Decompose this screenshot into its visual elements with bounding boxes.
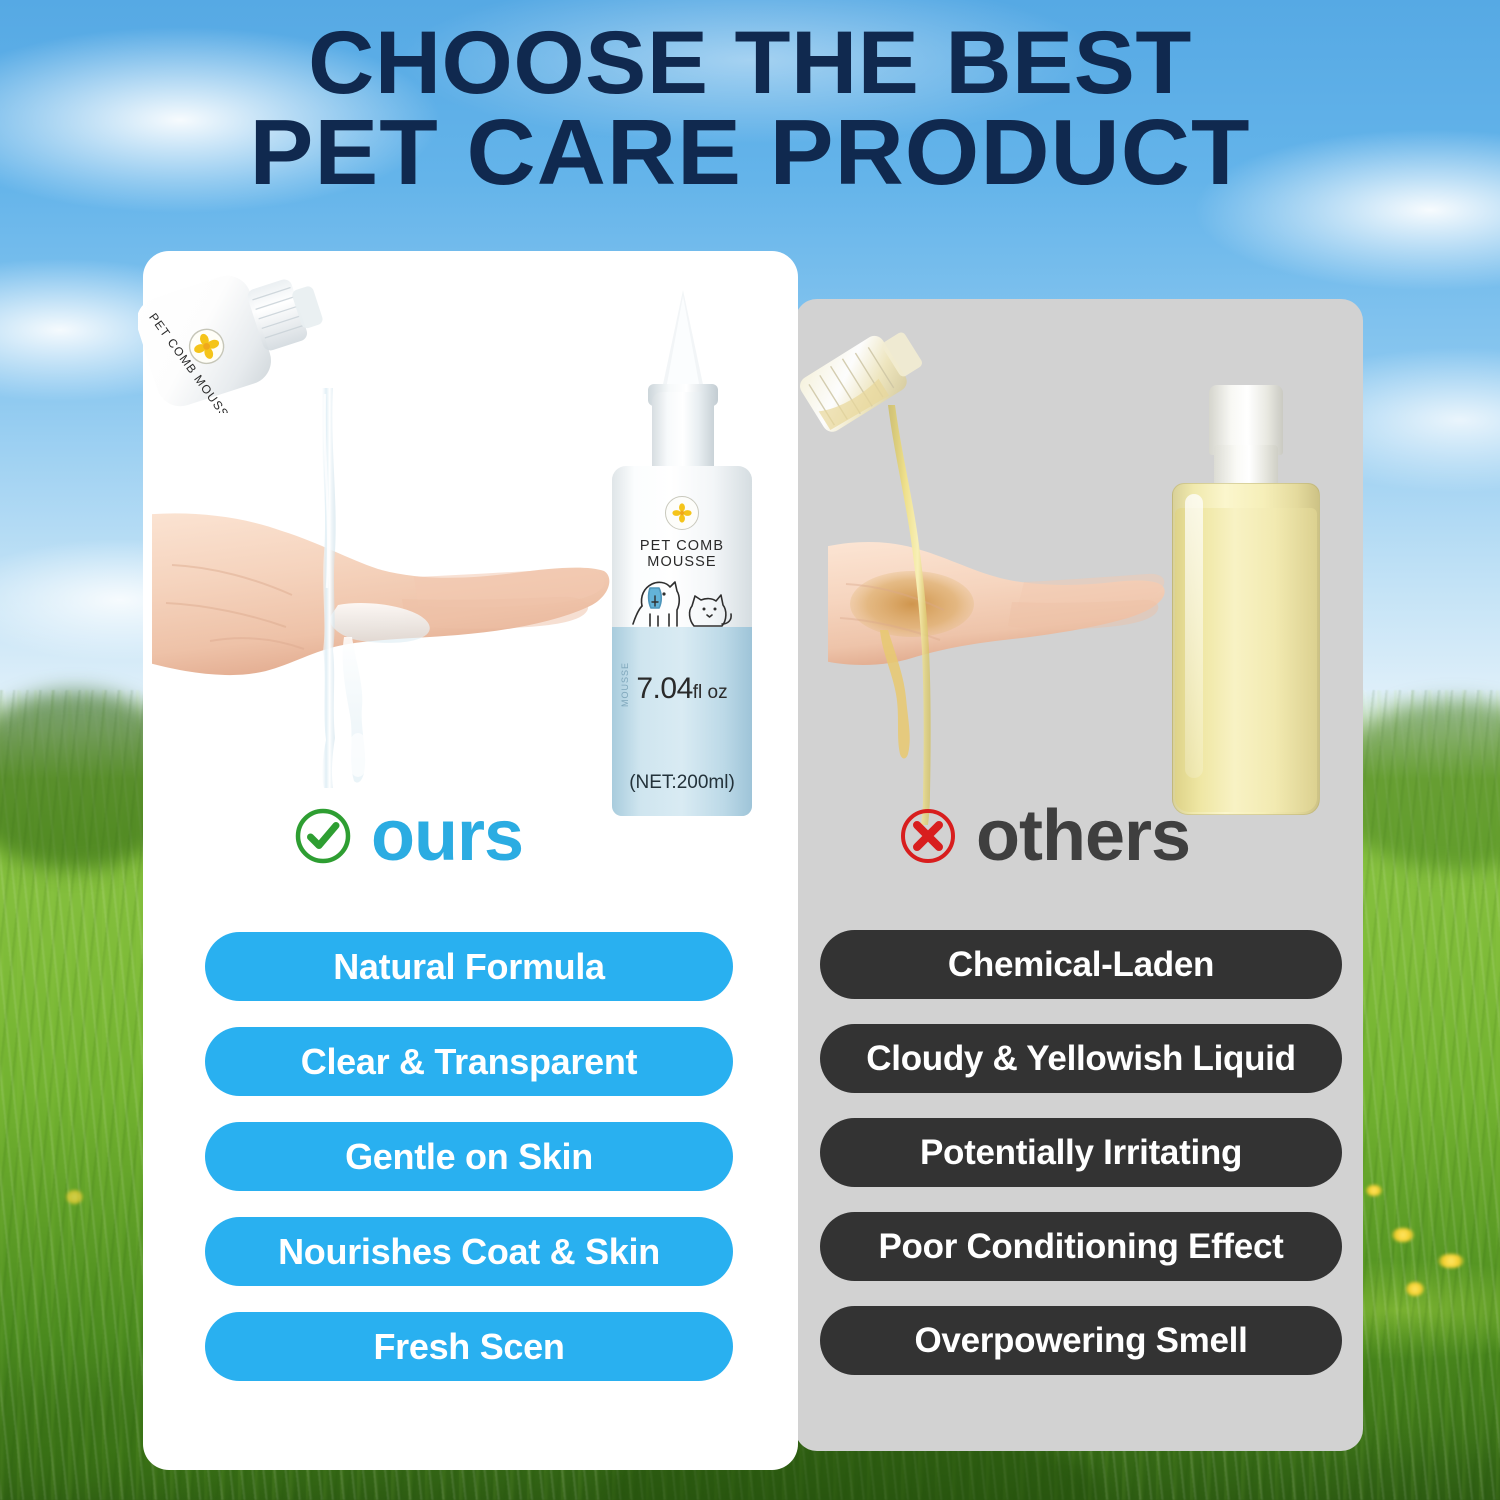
ours-feature-pill[interactable]: Clear & Transparent [205, 1027, 733, 1096]
flower-icon [66, 1190, 83, 1204]
others-feature-pill[interactable]: Potentially Irritating [820, 1118, 1342, 1187]
flower-icon [1392, 1228, 1414, 1242]
competitor-yellow-bottle [1172, 385, 1320, 815]
clear-liquid-stream [302, 388, 350, 788]
title-line-2: PET CARE PRODUCT [0, 106, 1500, 198]
ours-feature-pill[interactable]: Fresh Scen [205, 1312, 733, 1381]
flower-icon [1406, 1282, 1424, 1296]
others-feature-pill[interactable]: Poor Conditioning Effect [820, 1212, 1342, 1281]
others-label: others [976, 800, 1190, 872]
bottle-neck [652, 392, 714, 474]
competitor-bottle-body [1172, 483, 1320, 815]
others-verdict: others [898, 800, 1190, 872]
ours-verdict: ours [293, 800, 523, 872]
ours-label: ours [371, 800, 523, 872]
volume-number: 7.04 [636, 672, 692, 705]
hand-with-yellow-oil [828, 470, 1168, 760]
bottle-net-content: (NET:200ml) [612, 772, 752, 794]
others-feature-pill[interactable]: Overpowering Smell [820, 1306, 1342, 1375]
others-feature-pill[interactable]: Cloudy & Yellowish Liquid [820, 1024, 1342, 1093]
volume-unit: fl oz [693, 682, 728, 703]
bottle-volume: 7.04fl oz [612, 672, 752, 706]
dog-and-cat-illustration [628, 566, 736, 644]
ours-feature-pill[interactable]: Natural Formula [205, 932, 733, 1001]
yellow-flower-icon [665, 496, 699, 530]
bottle-highlight [1185, 494, 1203, 778]
ours-feature-pill[interactable]: Nourishes Coat & Skin [205, 1217, 733, 1286]
page-title: CHOOSE THE BEST PET CARE PRODUCT [0, 18, 1500, 198]
cross-circle-icon [898, 806, 958, 866]
product-bottle: PET COMB MOUSSE MOU [600, 288, 765, 816]
flower-icon [1366, 1185, 1382, 1196]
hand-with-clear-liquid [152, 455, 612, 785]
others-feature-pill[interactable]: Chemical-Laden [820, 930, 1342, 999]
others-feature-list: Chemical-Laden Cloudy & Yellowish Liquid… [820, 930, 1342, 1375]
ours-feature-list: Natural Formula Clear & Transparent Gent… [205, 932, 733, 1381]
yellow-oil-stream [880, 405, 940, 825]
title-line-1: CHOOSE THE BEST [0, 18, 1500, 106]
infographic-canvas: CHOOSE THE BEST PET CARE PRODUCT [0, 0, 1500, 1500]
bottle-label: PET COMB MOUSSE MOU [612, 466, 752, 816]
flower-icon [1438, 1254, 1464, 1268]
ours-feature-pill[interactable]: Gentle on Skin [205, 1122, 733, 1191]
check-circle-icon [293, 806, 353, 866]
